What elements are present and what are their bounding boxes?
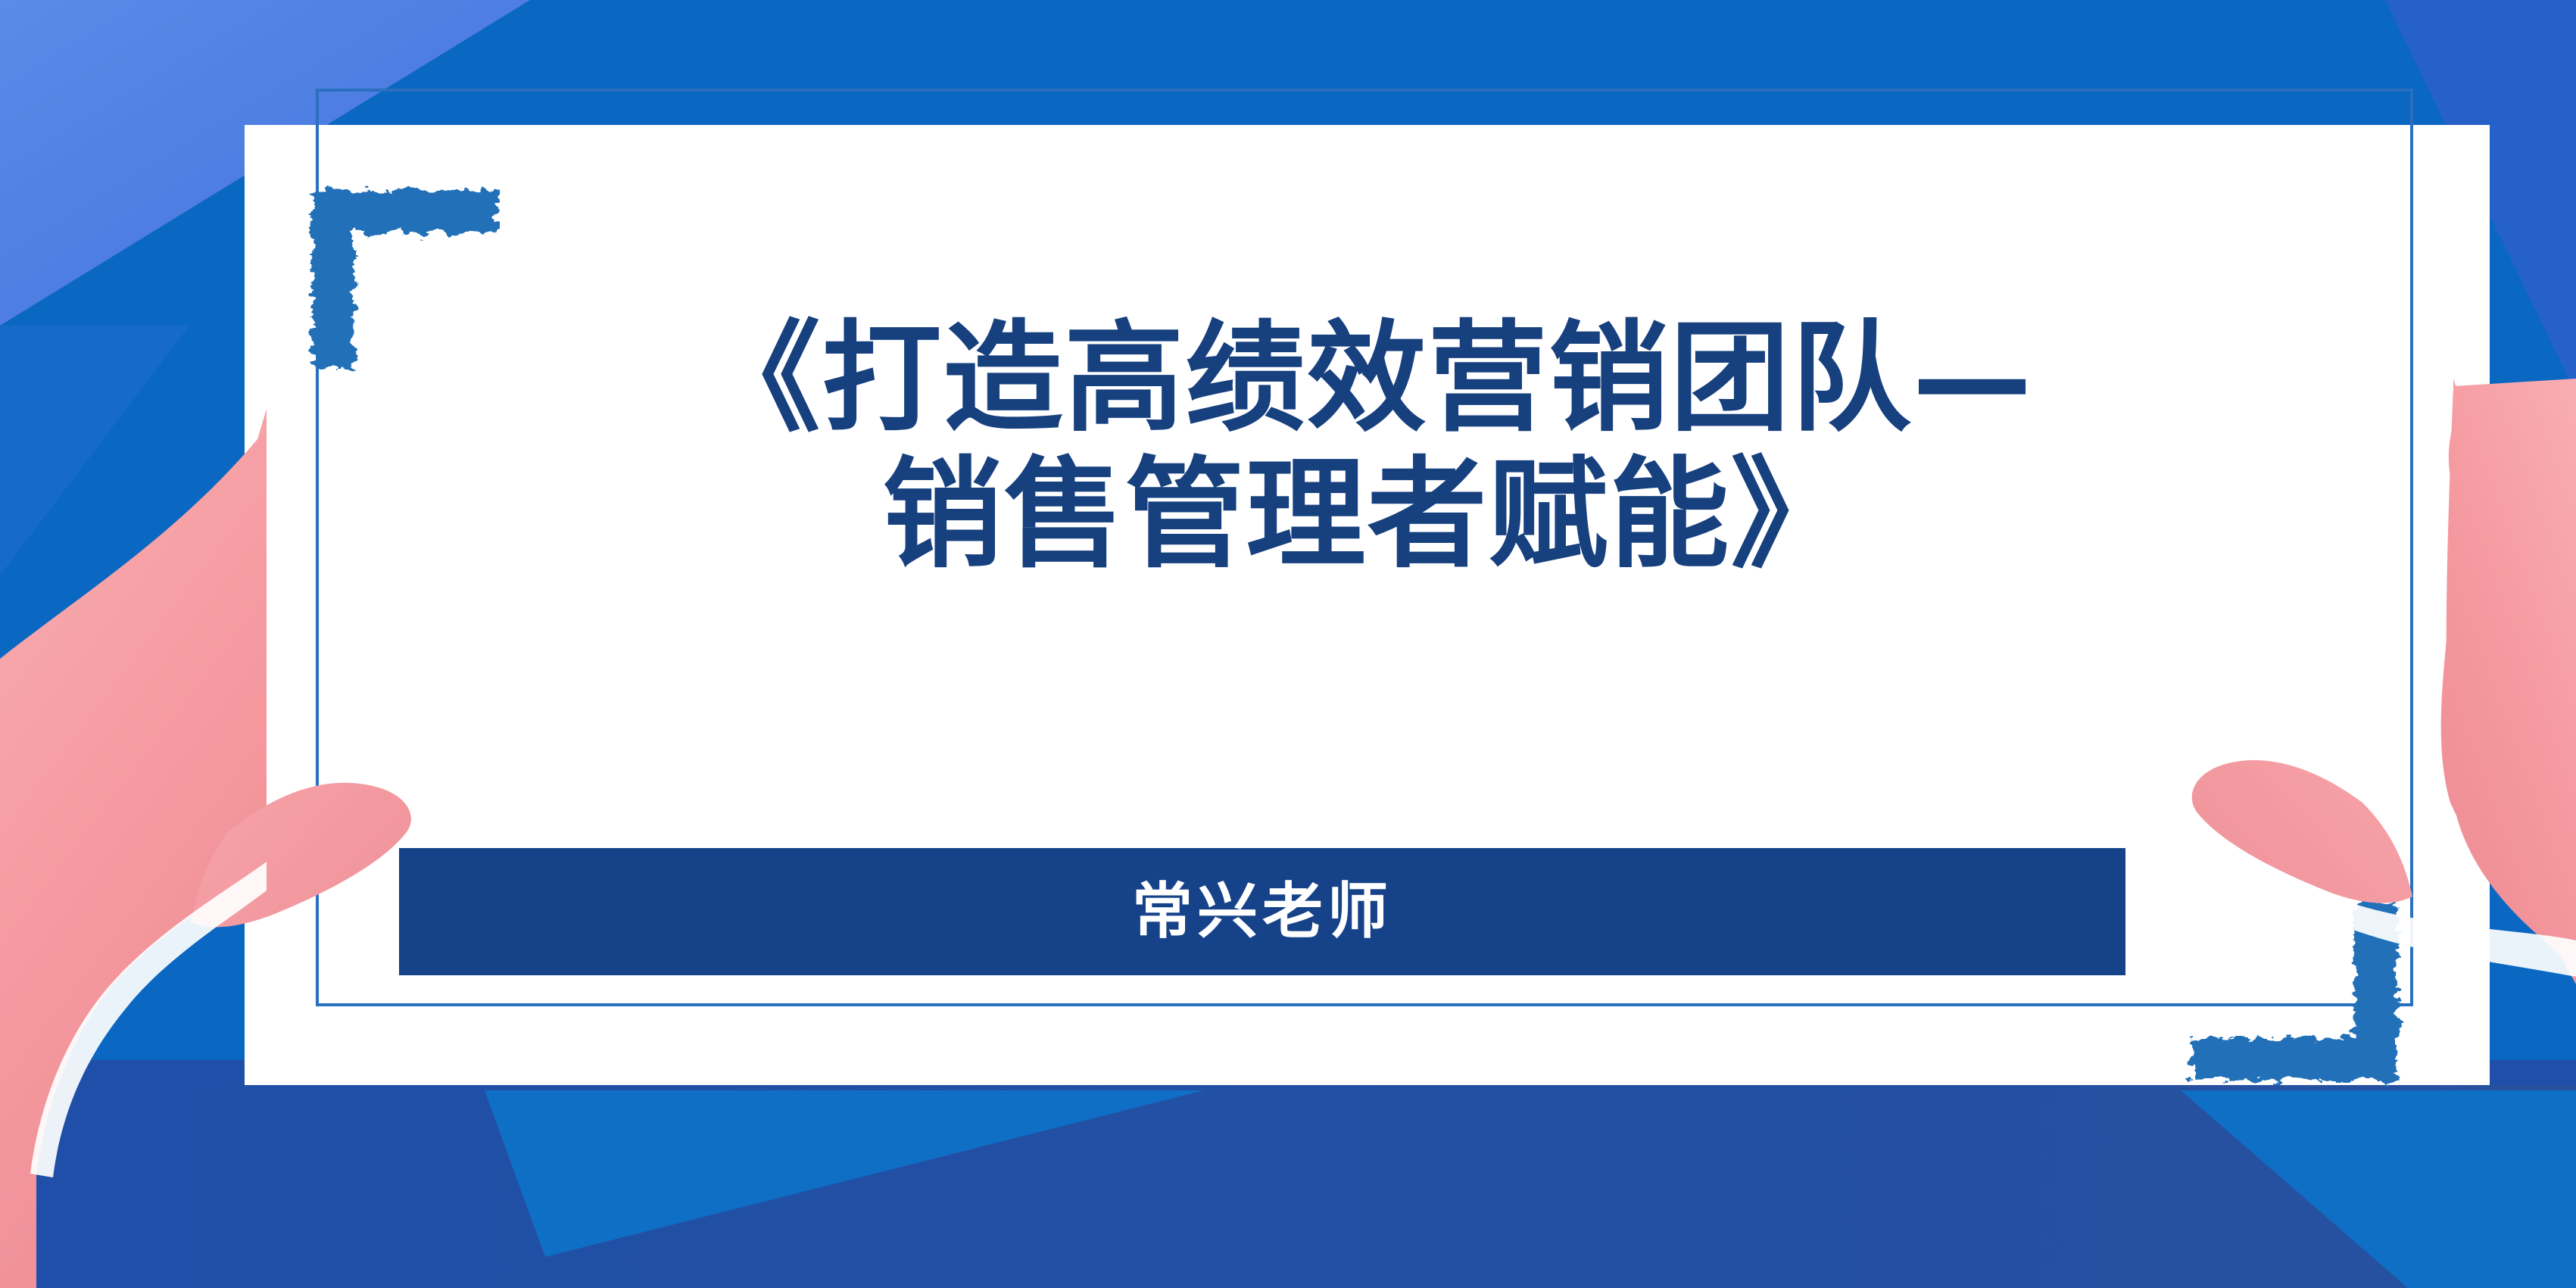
bg-bottom-navy-inner — [98, 1085, 2576, 1288]
presenter-name: 常兴老师 — [1132, 881, 1392, 942]
presenter-banner: 常兴老师 — [399, 848, 2125, 975]
card-content: 《打造高绩效营销团队— 销售管理者赋能》 常兴老师 — [245, 125, 2490, 1085]
page-title: 《打造高绩效营销团队— 销售管理者赋能》 — [565, 310, 2170, 583]
slide-canvas: 《打造高绩效营销团队— 销售管理者赋能》 常兴老师 — [0, 0, 2576, 1288]
